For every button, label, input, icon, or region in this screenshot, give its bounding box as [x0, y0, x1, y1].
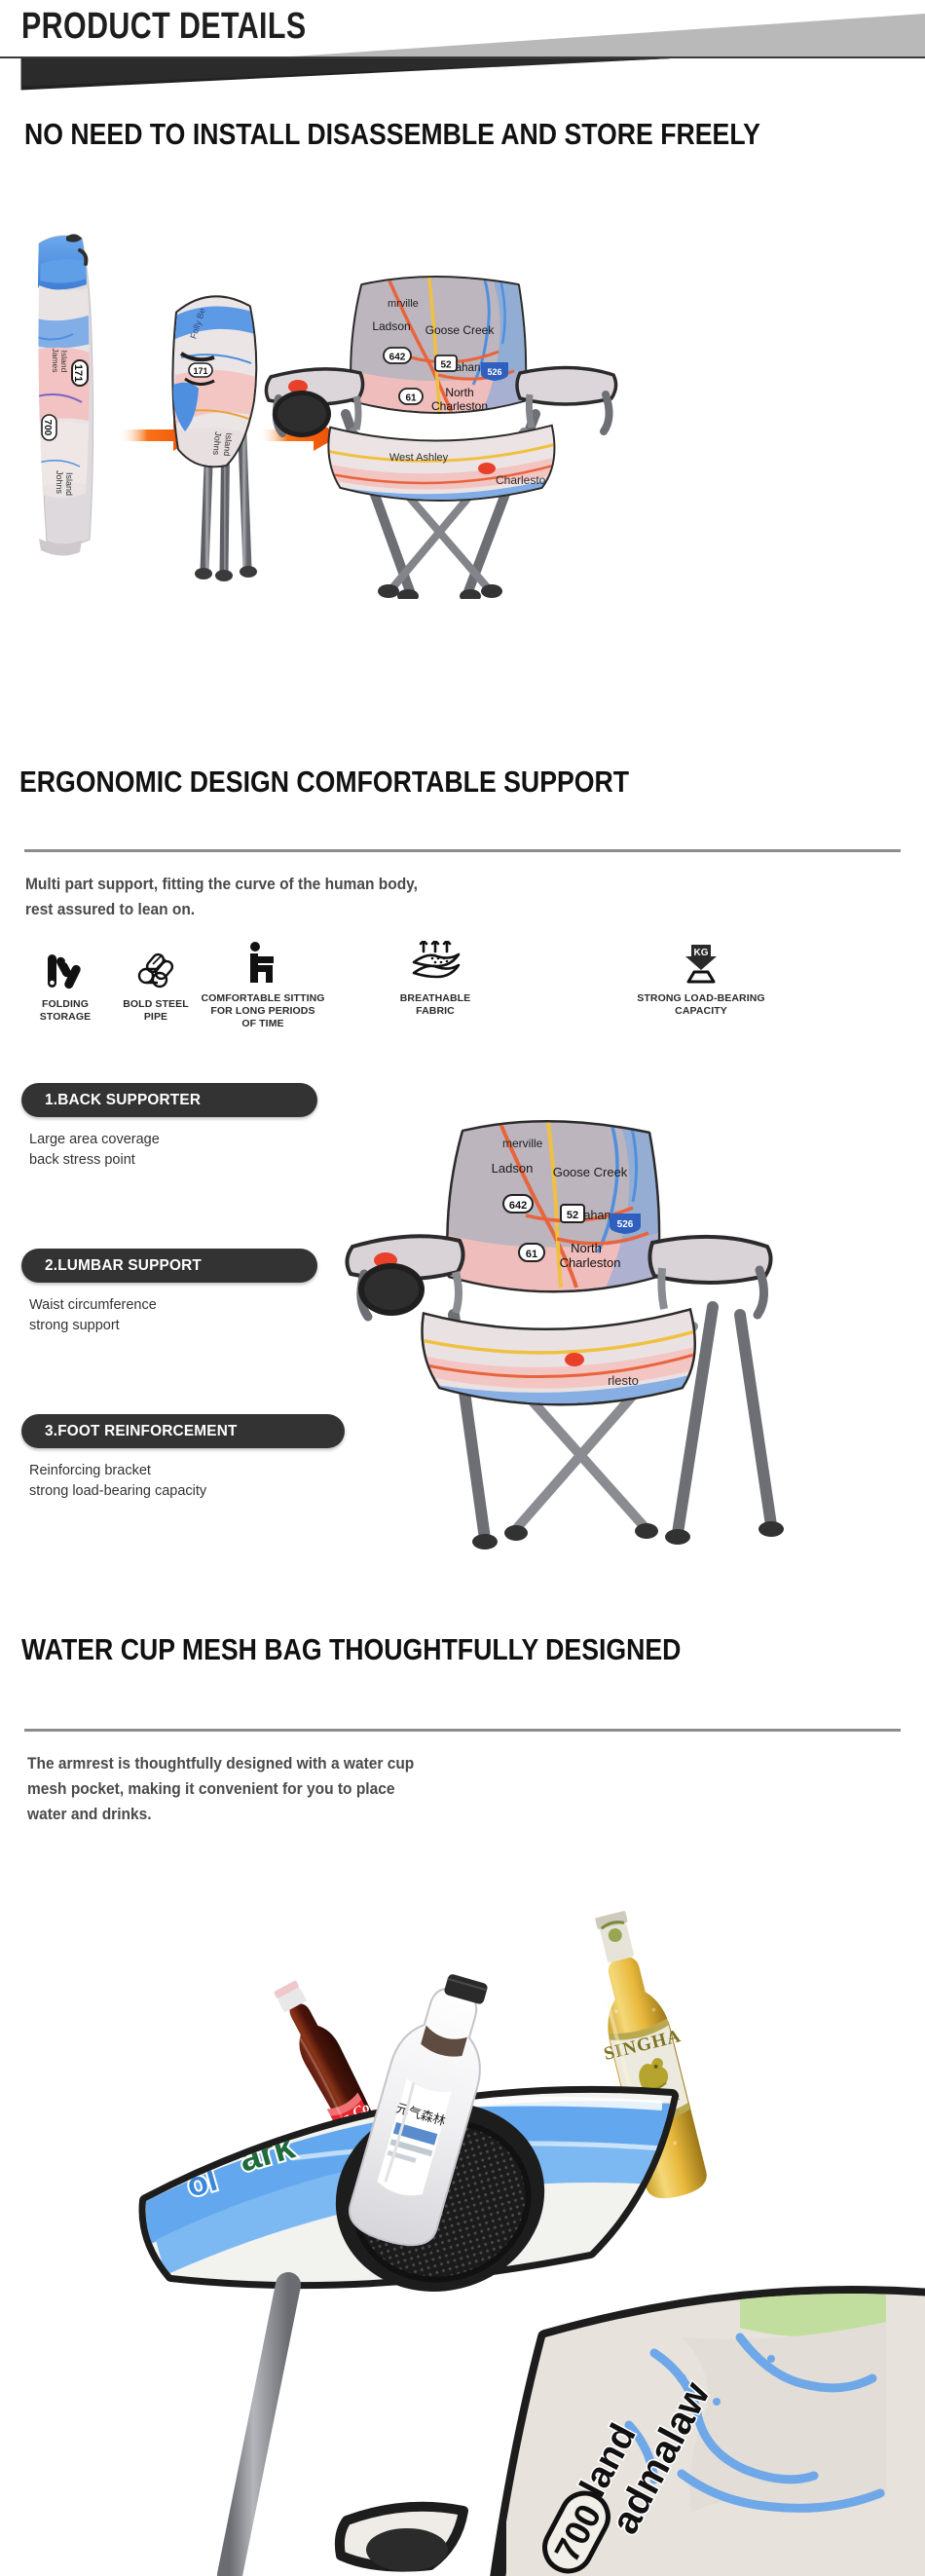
- point-desc-1: Large area coverage back stress point: [29, 1130, 160, 1171]
- point-title: 1.BACK SUPPORTER: [45, 1092, 201, 1109]
- section-heading-ergonomic: ERGONOMIC DESIGN COMFORTABLE SUPPORT: [19, 765, 629, 800]
- svg-text:52: 52: [567, 1210, 578, 1221]
- svg-text:West Ashley: West Ashley: [389, 452, 449, 464]
- install-step-images: 171 James Island Johns Island 700: [10, 170, 915, 599]
- seat-map-panel-image: admalaw Island 700: [497, 2279, 925, 2576]
- svg-text:171: 171: [193, 366, 207, 376]
- svg-text:52: 52: [440, 360, 452, 371]
- banner-dark-wedge: [0, 58, 925, 99]
- load-bearing-icon: KG: [594, 941, 808, 986]
- feature-comfortable-sitting: COMFORTABLE SITTING FOR LONG PERIODS OF …: [175, 941, 351, 1030]
- svg-text:Goose Creek: Goose Creek: [553, 1165, 628, 1179]
- svg-text:61: 61: [405, 393, 417, 404]
- svg-text:700: 700: [42, 420, 53, 436]
- page-banner: PRODUCT DETAILS: [0, 0, 925, 105]
- point-pill-2: 2.LUMBAR SUPPORT: [21, 1249, 317, 1283]
- divider-ergonomic: [24, 849, 901, 852]
- svg-text:171: 171: [72, 364, 84, 382]
- sitting-person-icon: [175, 941, 351, 986]
- svg-text:rlesto: rlesto: [608, 1373, 639, 1388]
- point-pill-3: 3.FOOT REINFORCEMENT: [21, 1414, 345, 1448]
- point-title: 2.LUMBAR SUPPORT: [45, 1257, 202, 1275]
- feature-load-bearing: KG STRONG LOAD-BEARING CAPACITY: [594, 941, 808, 1018]
- mesh-bag-scene: Coca-Cola SINGHA LAGER BEER: [0, 1656, 925, 2576]
- svg-text:North: North: [445, 386, 473, 399]
- svg-text:merville: merville: [502, 1137, 543, 1150]
- svg-text:North: North: [571, 1241, 602, 1255]
- breathable-fabric-icon: [362, 941, 508, 986]
- svg-text:526: 526: [617, 1219, 634, 1230]
- point-desc-3: Reinforcing bracket strong load-bearing …: [29, 1461, 206, 1502]
- svg-text:Island: Island: [59, 351, 69, 373]
- page-title: PRODUCT DETAILS: [21, 6, 307, 48]
- svg-text:Johns: Johns: [55, 470, 64, 495]
- svg-text:526: 526: [487, 367, 501, 377]
- point-title: 3.FOOT REINFORCEMENT: [45, 1423, 238, 1440]
- svg-text:Ladson: Ladson: [372, 319, 410, 333]
- ergonomic-intro-text: Multi part support, fitting the curve of…: [25, 872, 418, 922]
- feature-label: STRONG LOAD-BEARING CAPACITY: [594, 992, 808, 1018]
- svg-text:James: James: [51, 348, 60, 372]
- svg-text:Ladson: Ladson: [492, 1161, 534, 1176]
- point-pill-1: 1.BACK SUPPORTER: [21, 1083, 317, 1117]
- section-heading-install: NO NEED TO INSTALL DISASSEMBLE AND STORE…: [24, 117, 760, 152]
- svg-text:642: 642: [509, 1200, 527, 1212]
- svg-text:Island: Island: [64, 472, 74, 496]
- svg-text:KG: KG: [694, 948, 709, 958]
- bottom-strap-image: [340, 2507, 463, 2571]
- svg-text:Charleston: Charleston: [560, 1255, 621, 1270]
- feature-label: BREATHABLE FABRIC: [362, 992, 508, 1018]
- feature-breathable-fabric: BREATHABLE FABRIC: [362, 941, 508, 1018]
- carry-bag-image: 171 James Island Johns Island 700: [29, 234, 97, 555]
- point-desc-2: Waist circumference strong support: [29, 1295, 157, 1336]
- half-folded-chair-image: Folly Be 171 Johns Island: [170, 282, 263, 581]
- svg-text:Goose Creek: Goose Creek: [425, 323, 496, 337]
- feature-label: COMFORTABLE SITTING FOR LONG PERIODS OF …: [175, 992, 351, 1030]
- svg-text:mrville: mrville: [388, 298, 419, 310]
- ergonomic-chair-image: rlesto merville Ladson Goose Creek Hanah…: [331, 1023, 925, 1578]
- svg-text:642: 642: [389, 353, 406, 363]
- svg-text:61: 61: [526, 1249, 537, 1260]
